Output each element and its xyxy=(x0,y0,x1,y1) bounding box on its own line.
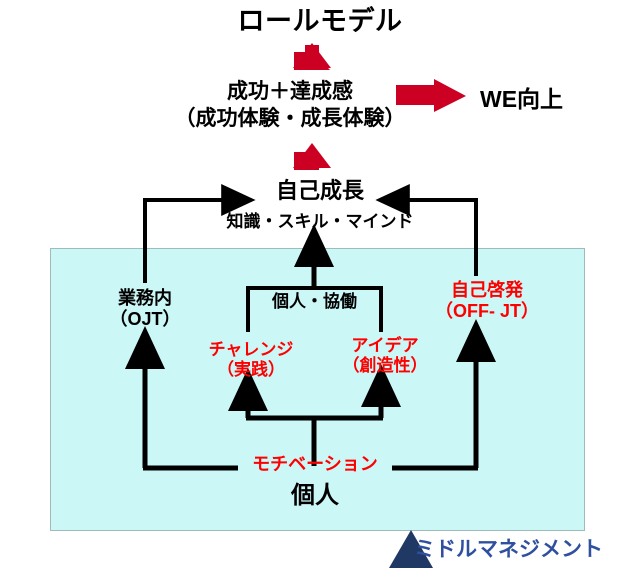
red-arrow-up-to-success xyxy=(293,143,331,170)
self-growth-label: 自己成長 xyxy=(0,178,640,204)
individual-label: 個人 xyxy=(245,482,385,510)
ojt-node: 業務内 （OJT） xyxy=(80,288,210,330)
idea-line-2: （創造性） xyxy=(343,356,428,375)
diagram-canvas: ロールモデル 成功＋達成感 （成功体験・成長体験） WE向上 自己成長 知識・ス… xyxy=(0,0,640,579)
individual-collaboration-label: 個人・協働 xyxy=(248,292,381,312)
we-improvement-label: WE向上 xyxy=(480,86,630,113)
challenge-line-2: （実践） xyxy=(217,360,285,379)
off-jt-node: 自己啓発 （OFF- JT） xyxy=(412,280,562,322)
self-growth-sublabel: 知識・スキル・マインド xyxy=(0,212,640,232)
challenge-node: チャレンジ （実践） xyxy=(186,340,316,380)
motivation-label: モチベーション xyxy=(240,454,390,475)
ojt-line-1: 業務内 xyxy=(118,288,172,308)
idea-node: アイデア （創造性） xyxy=(320,336,450,376)
off-jt-line-2: （OFF- JT） xyxy=(435,301,539,321)
middle-management-label: ミドルマネジメント xyxy=(414,538,634,563)
role-model-title: ロールモデル xyxy=(0,6,640,38)
off-jt-line-1: 自己啓発 xyxy=(451,280,523,300)
challenge-line-1: チャレンジ xyxy=(209,340,294,359)
red-arrow-up-to-role-model xyxy=(293,43,331,70)
ojt-line-2: （OJT） xyxy=(109,309,180,329)
idea-line-1: アイデア xyxy=(351,336,418,355)
